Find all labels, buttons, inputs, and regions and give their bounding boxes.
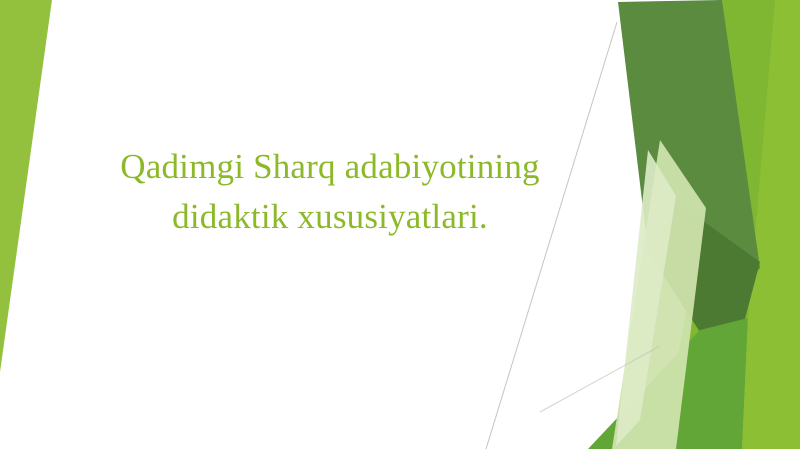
vivid-green-edge (737, 0, 800, 449)
mid-green-lower (588, 318, 748, 449)
slide-canvas: Qadimgi Sharq adabiyotining didaktik xus… (0, 0, 800, 449)
bright-green-panel (660, 0, 800, 449)
page-title: Qadimgi Sharq adabiyotining didaktik xus… (60, 142, 600, 241)
hairline-diagonal-short (540, 346, 660, 412)
dark-green-band (618, 0, 760, 330)
pale-green-overlay (612, 140, 706, 449)
left-green-wedge (0, 0, 52, 372)
title-block: Qadimgi Sharq adabiyotining didaktik xus… (60, 142, 600, 241)
lower-right-bright-triangle (742, 300, 800, 449)
pale-green-light (616, 150, 676, 446)
deep-green-wedge (648, 190, 760, 332)
